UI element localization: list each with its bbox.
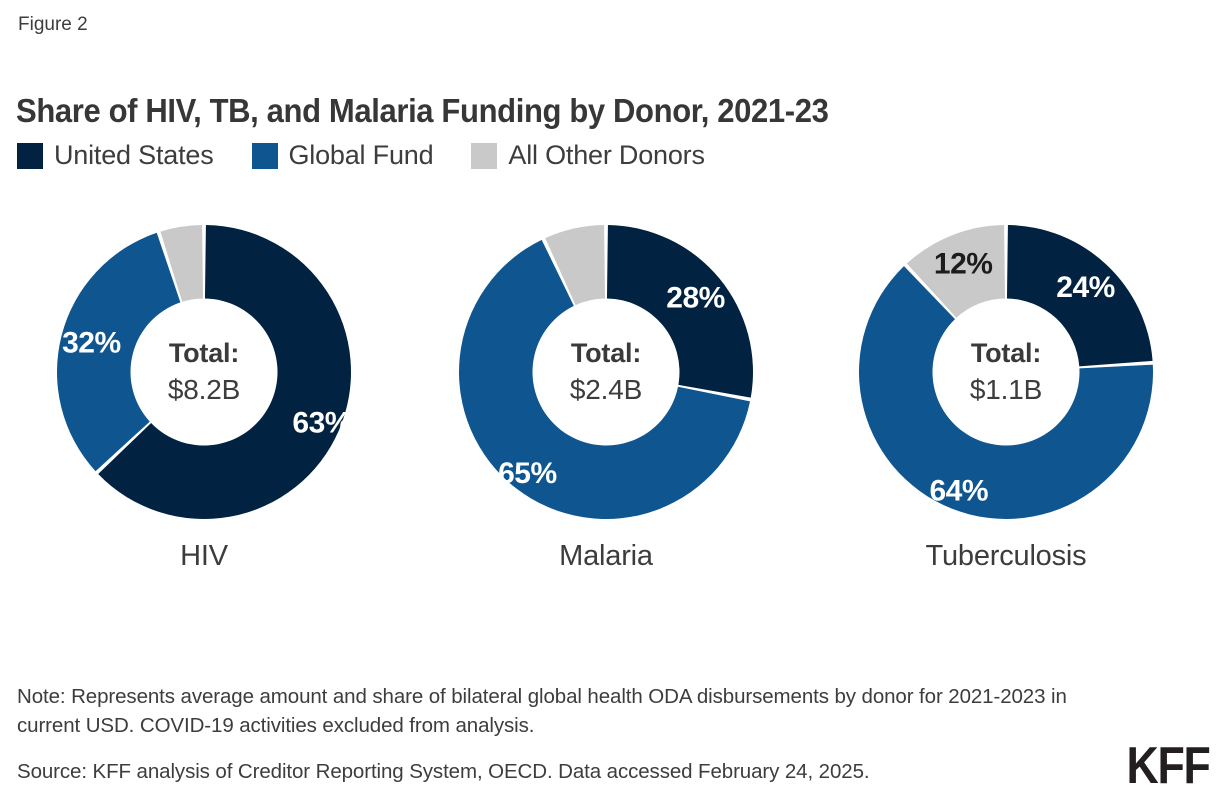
donut-malaria-graphic: 28%65% Total: $2.4B: [456, 222, 756, 522]
donut-tuberculosis-svg: 24%64%12%: [856, 222, 1156, 522]
page-title: Share of HIV, TB, and Malaria Funding by…: [16, 92, 828, 130]
legend-item-label: All Other Donors: [508, 140, 704, 171]
donut-category-label-tuberculosis: Tuberculosis: [841, 540, 1171, 573]
legend-item-label: Global Fund: [289, 140, 434, 171]
legend-item-label: United States: [54, 140, 214, 171]
donut-slice-label: 63%: [292, 406, 351, 439]
donut-chart-tuberculosis: 24%64%12% Total: $1.1B Tuberculosis: [841, 222, 1171, 582]
legend-item-united-states[interactable]: United States: [17, 140, 214, 171]
donut-malaria-svg: 28%65%: [456, 222, 756, 522]
donut-tuberculosis-graphic: 24%64%12% Total: $1.1B: [856, 222, 1156, 522]
legend-swatch-icon: [252, 143, 278, 169]
donut-slice-label: 64%: [930, 475, 989, 508]
note-text: Note: Represents average amount and shar…: [17, 682, 1092, 740]
donut-hiv-graphic: 63%32% Total: $8.2B: [54, 222, 354, 522]
source-text: Source: KFF analysis of Creditor Reporti…: [17, 757, 1107, 786]
chart-legend: United States Global Fund All Other Dono…: [17, 140, 743, 171]
figure-label: Figure 2: [18, 14, 88, 36]
donut-hiv-svg: 63%32%: [54, 222, 354, 522]
donut-category-label-malaria: Malaria: [441, 540, 771, 573]
donut-slice-label: 28%: [666, 281, 725, 314]
chart-footer: Note: Represents average amount and shar…: [17, 682, 1107, 786]
legend-item-global-fund[interactable]: Global Fund: [252, 140, 434, 171]
donut-chart-malaria: 28%65% Total: $2.4B Malaria: [441, 222, 771, 582]
legend-swatch-icon: [17, 143, 43, 169]
donut-slice-label: 24%: [1056, 271, 1115, 304]
donut-chart-group: 63%32% Total: $8.2B HIV 28%65% Total: $2…: [0, 222, 1220, 582]
donut-slice-label: 12%: [934, 247, 993, 280]
legend-item-all-other-donors[interactable]: All Other Donors: [471, 140, 704, 171]
kff-logo: KFF: [1127, 740, 1210, 792]
donut-chart-hiv: 63%32% Total: $8.2B HIV: [39, 222, 369, 582]
donut-slice-label: 65%: [498, 457, 557, 490]
legend-swatch-icon: [471, 143, 497, 169]
donut-category-label-hiv: HIV: [39, 540, 369, 573]
donut-slice-label: 32%: [62, 327, 121, 360]
